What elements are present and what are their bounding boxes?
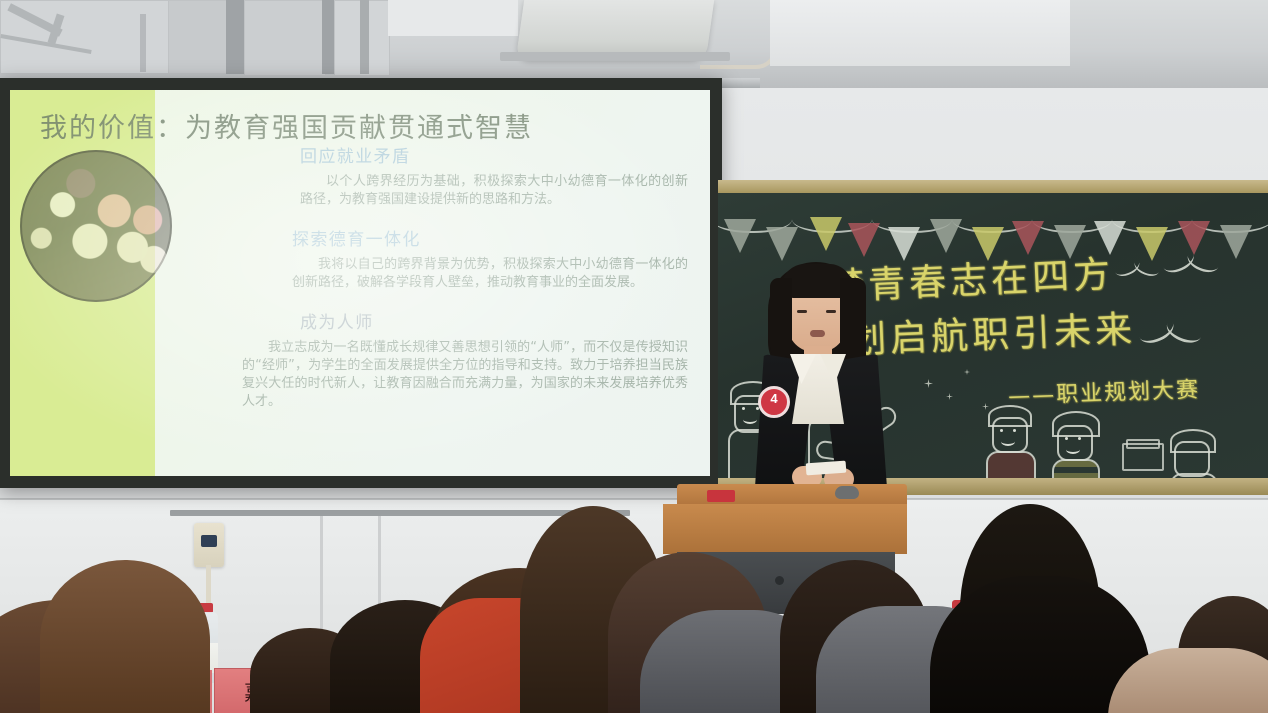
classroom-scene: 我的价值：为教育强国贡献贯通式智慧 回应就业矛盾 以个人跨界经历为基础，积极探索…	[0, 0, 1268, 713]
chalk-book-icon	[1126, 439, 1160, 449]
presenter-eye	[797, 310, 807, 313]
wall-power-outlet[interactable]	[194, 523, 224, 567]
presenter-mouth	[810, 330, 825, 337]
section-body-1: 以个人跨界经历为基础，积极探索大中小幼德育一体化的创新路径，为教育强国建设提供新…	[300, 173, 688, 209]
section-heading-3: 成为人师	[300, 308, 688, 333]
presenter: 4	[740, 258, 900, 508]
lectern-knob	[775, 576, 784, 585]
blackboard-top-trim	[718, 180, 1268, 193]
contestant-badge: 4	[758, 386, 790, 418]
ceiling-bracket	[0, 12, 120, 60]
slide-section: 成为人师 我立志成为一名既懂成长规律又善思想引领的“人师”，而不仅是传授知识的“…	[242, 308, 688, 411]
ceiling-projector	[516, 0, 714, 60]
section-body-2: 我将以自己的跨界背景为优势，积极探索大中小幼德育一体化的创新路径，破解各学段育人…	[292, 256, 688, 292]
section-heading-2: 探索德育一体化	[292, 225, 688, 250]
section-heading-1: 回应就业矛盾	[300, 142, 688, 167]
outlet-cord	[206, 565, 211, 607]
projection-screen-frame: 我的价值：为教育强国贡献贯通式智慧 回应就业矛盾 以个人跨界经历为基础，积极探索…	[0, 78, 722, 488]
audience-member	[40, 560, 210, 713]
flower-photo-rim	[20, 150, 172, 302]
blackboard-line-3: ——职业规划大赛	[1008, 372, 1201, 411]
slide-section: 探索德育一体化 我将以自己的跨界背景为优势，积极探索大中小幼德育一体化的创新路径…	[292, 225, 688, 292]
section-body-3: 我立志成为一名既懂成长规律又善思想引领的“人师”，而不仅是传授知识的“经师”，为…	[242, 339, 688, 411]
slide-section: 回应就业矛盾 以个人跨界经历为基础，积极探索大中小幼德育一体化的创新路径，为教育…	[300, 142, 688, 209]
slide-title: 我的价值：为教育强国贡献贯通式智慧	[40, 106, 690, 145]
projector-mount	[500, 52, 730, 61]
lectern-red-item	[707, 490, 735, 502]
projected-slide: 我的价值：为教育强国贡献贯通式智慧 回应就业矛盾 以个人跨界经历为基础，积极探索…	[10, 90, 710, 476]
lectern-body	[663, 504, 907, 554]
slide-body: 回应就业矛盾 以个人跨界经历为基础，积极探索大中小幼德育一体化的创新路径，为教育…	[300, 142, 688, 427]
presenter-eye	[826, 310, 836, 313]
projector-cable	[700, 10, 778, 69]
presenter-hair-left	[770, 278, 792, 358]
air-conditioner-unit	[770, 0, 1070, 68]
computer-mouse	[835, 486, 859, 499]
